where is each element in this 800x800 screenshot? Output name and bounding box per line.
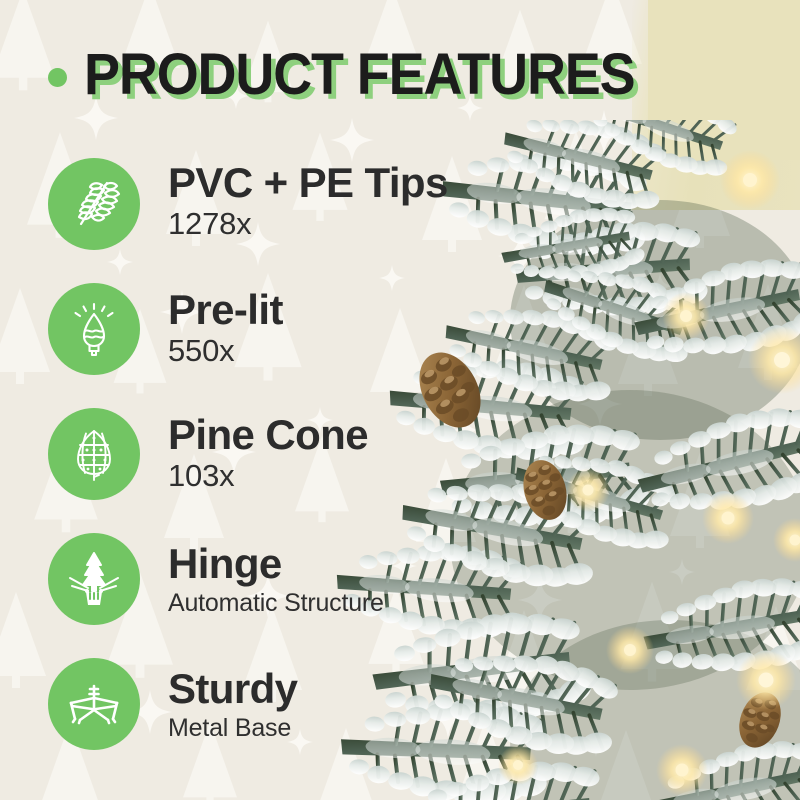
feature-item-hinge: Hinge Automatic Structure xyxy=(48,533,648,658)
feature-item-sturdy: Sturdy Metal Base xyxy=(48,658,648,783)
feature-name: Hinge xyxy=(168,541,638,587)
light-bulb-icon xyxy=(48,283,140,375)
feature-item-pvc-pe-tips: PVC + PE Tips 1278x xyxy=(48,158,648,283)
feature-text: Hinge Automatic Structure xyxy=(168,541,638,619)
feature-list: PVC + PE Tips 1278x xyxy=(48,158,648,783)
feature-text: Pre-lit 550x xyxy=(168,287,638,369)
feature-sub: Metal Base xyxy=(168,712,638,744)
feature-name: PVC + PE Tips xyxy=(168,160,638,206)
pine-branch-icon xyxy=(48,158,140,250)
feature-item-pre-lit: Pre-lit 550x xyxy=(48,283,648,408)
product-features-infographic: PRODUCT FEATURES xyxy=(0,0,800,800)
hinge-tree-icon xyxy=(48,533,140,625)
feature-name: Pine Cone xyxy=(168,412,638,458)
feature-sub: 103x xyxy=(168,458,638,494)
feature-text: PVC + PE Tips 1278x xyxy=(168,160,638,242)
feature-name: Pre-lit xyxy=(168,287,638,333)
feature-sub: Automatic Structure xyxy=(168,587,638,619)
feature-sub: 1278x xyxy=(168,206,638,242)
feature-text: Sturdy Metal Base xyxy=(168,666,638,744)
feature-sub: 550x xyxy=(168,333,638,369)
pine-cone-icon xyxy=(48,408,140,500)
page-title: PRODUCT FEATURES xyxy=(84,46,635,104)
tree-stand-base-icon xyxy=(48,658,140,750)
feature-text: Pine Cone 103x xyxy=(168,412,638,494)
feature-name: Sturdy xyxy=(168,666,638,712)
feature-item-pine-cone: Pine Cone 103x xyxy=(48,408,648,533)
dot-bullet-icon xyxy=(48,68,67,87)
page-header: PRODUCT FEATURES xyxy=(48,40,748,110)
